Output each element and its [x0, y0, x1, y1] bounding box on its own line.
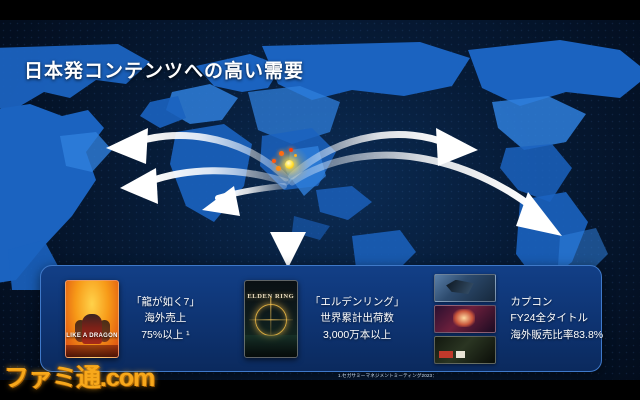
yakuza-art-strip	[66, 345, 118, 357]
origin-dot-4	[272, 159, 276, 163]
yakuza-cover-logo-text: LIKE A DRAGON	[66, 333, 117, 339]
capcom-caption: カプコン FY24全タイトル 海外販売比率83.8%	[510, 294, 603, 343]
origin-dot-3	[276, 166, 281, 171]
capcom-caption-line-2: FY24全タイトル	[510, 310, 603, 326]
yakuza-cover-logo: LIKE A DRAGON	[66, 330, 118, 343]
yakuza-caption-line-2: 海外売上	[131, 310, 200, 326]
origin-dot-japan	[285, 160, 294, 169]
capcom-caption-line-1: カプコン	[510, 294, 603, 310]
arrow-west-northwest-head	[106, 128, 148, 164]
panel-item-elden-ring: ELDEN RING 「エルデンリング」 世界累計出荷数 3,000万本以上	[244, 266, 405, 371]
footnote-line-1: 1.セガサミーマネジメントミーティング2023：	[338, 372, 556, 380]
yakuza-like-a-dragon-cover: LIKE A DRAGON	[65, 280, 119, 358]
footnote: 1.セガサミーマネジメントミーティング2023： https://www.seg…	[338, 372, 556, 380]
arrow-south-head	[270, 232, 306, 268]
elden-ring-caption-line-1: 「エルデンリング」	[310, 294, 405, 310]
yakuza-caption: 「龍が如く7」 海外売上 75%以上 ¹	[131, 294, 200, 343]
panel-item-yakuza: LIKE A DRAGON 「龍が如く7」 海外売上 75%以上 ¹	[65, 266, 200, 371]
famitsu-watermark: ファミ通.com	[4, 358, 154, 394]
arrow-west-head	[120, 168, 158, 204]
capcom-title-thumbnails	[434, 274, 496, 364]
origin-dot-2	[289, 148, 293, 152]
elden-ring-cover: ELDEN RING	[244, 280, 298, 358]
resident-evil-4-thumbnail	[434, 336, 496, 364]
origin-dot-1	[279, 151, 284, 156]
panel-item-capcom: カプコン FY24全タイトル 海外販売比率83.8%	[434, 266, 603, 371]
elden-ring-caption: 「エルデンリング」 世界累計出荷数 3,000万本以上	[310, 294, 405, 343]
elden-ring-caption-line-3: 3,000万本以上	[310, 327, 405, 343]
content-panel: LIKE A DRAGON 「龍が如く7」 海外売上 75%以上 ¹ ELDEN…	[40, 265, 602, 372]
screenshot-root: 日本発コンテンツへの高い需要 LIKE A DRAGON 「龍が如く7」 海外売…	[0, 0, 640, 400]
capcom-caption-line-3: 海外販売比率83.8%	[510, 327, 603, 343]
origin-dot-5	[294, 154, 297, 157]
presentation-slide: 日本発コンテンツへの高い需要 LIKE A DRAGON 「龍が如く7」 海外売…	[0, 20, 640, 380]
yakuza-caption-line-3: 75%以上 ¹	[131, 327, 200, 343]
street-fighter-6-thumbnail	[434, 305, 496, 333]
elden-ring-art-ring	[255, 304, 287, 336]
monster-hunter-thumbnail	[434, 274, 496, 302]
yakuza-caption-line-1: 「龍が如く7」	[131, 294, 200, 310]
letterbox-top	[0, 0, 640, 20]
elden-ring-caption-line-2: 世界累計出荷数	[310, 310, 405, 326]
elden-ring-art-horizon	[245, 335, 297, 357]
page-title: 日本発コンテンツへの高い需要	[24, 56, 304, 83]
